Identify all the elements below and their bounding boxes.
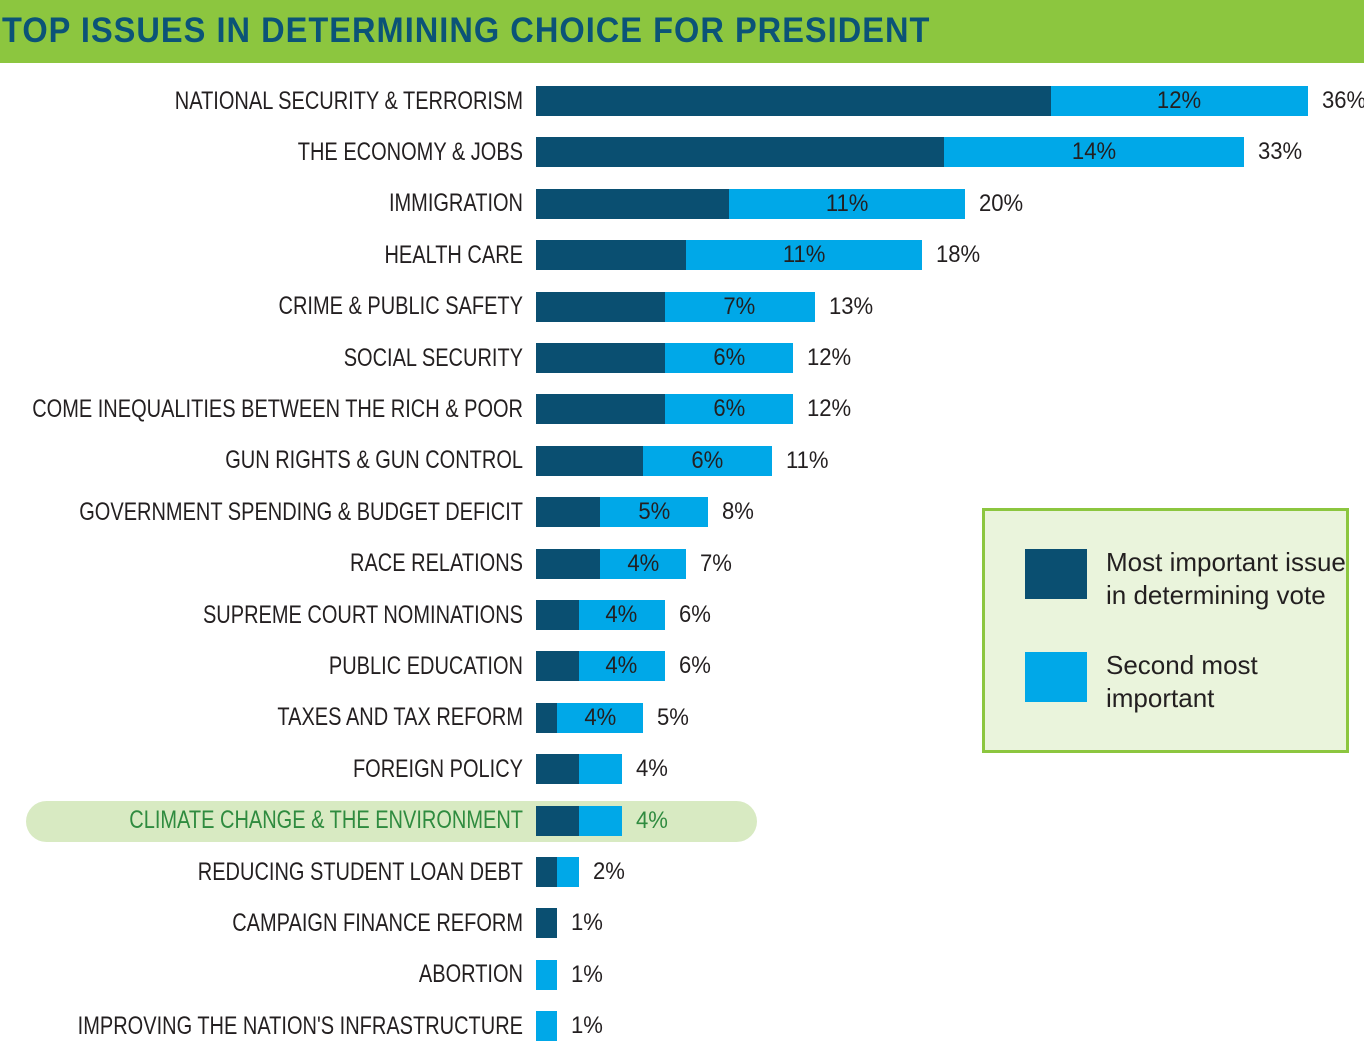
bar-segment-primary (536, 806, 579, 836)
bar-segment-primary (536, 600, 579, 630)
bar-track: 4% (536, 549, 686, 579)
category-label: PUBLIC EDUCATION (105, 644, 523, 688)
total-value-label: 1% (571, 1011, 603, 1041)
bar-segment-secondary: 6% (643, 446, 772, 476)
segment-value-label: 4% (627, 552, 659, 576)
bar-track (536, 806, 622, 836)
total-value-label: 33% (1258, 137, 1302, 167)
bar-track: 7% (536, 292, 815, 322)
chart-row: REDUCING STUDENT LOAN DEBT2% (0, 850, 1364, 894)
bar-track: 6% (536, 343, 793, 373)
chart-row: NATIONAL SECURITY & TERRORISM12%36% (0, 79, 1364, 123)
chart-row: SOCIAL SECURITY6%12% (0, 336, 1364, 380)
segment-value-label: 11% (826, 192, 869, 216)
segment-value-label: 4% (606, 654, 638, 678)
bar-segment-secondary (579, 754, 622, 784)
category-label: CRIME & PUBLIC SAFETY (105, 285, 523, 329)
category-label: CAMPAIGN FINANCE REFORM (105, 901, 523, 945)
bar-track: 14% (536, 137, 1244, 167)
category-label: NATIONAL SECURITY & TERRORISM (105, 79, 523, 123)
legend-entry-secondary: Second most important (1025, 649, 1258, 715)
header-banner: TOP ISSUES IN DETERMINING CHOICE FOR PRE… (0, 0, 1364, 63)
total-value-label: 12% (807, 343, 851, 373)
chart-row: CAMPAIGN FINANCE REFORM1% (0, 901, 1364, 945)
bar-segment-secondary: 11% (729, 189, 965, 219)
category-label: COME INEQUALITIES BETWEEN THE RICH & POO… (105, 387, 523, 431)
bar-track: 6% (536, 446, 772, 476)
category-label: SUPREME COURT NOMINATIONS (105, 593, 523, 637)
bar-track: 4% (536, 651, 665, 681)
bar-track (536, 857, 579, 887)
bar-track: 11% (536, 189, 965, 219)
legend-label-primary: Most important issue in determining vote (1106, 546, 1346, 612)
bar-segment-primary (536, 343, 665, 373)
total-value-label: 4% (636, 806, 668, 836)
category-label: GOVERNMENT SPENDING & BUDGET DEFICIT (105, 490, 523, 534)
total-value-label: 1% (571, 908, 603, 938)
segment-value-label: 6% (713, 397, 745, 421)
bar-segment-secondary: 6% (665, 343, 794, 373)
total-value-label: 4% (636, 754, 668, 784)
chart-legend: Most important issue in determining vote… (982, 508, 1349, 753)
chart-page: TOP ISSUES IN DETERMINING CHOICE FOR PRE… (0, 0, 1364, 1051)
segment-value-label: 14% (1072, 140, 1116, 164)
bar-track: 4% (536, 703, 643, 733)
bar-segment-primary (536, 292, 665, 322)
chart-row: FOREIGN POLICY4% (0, 747, 1364, 791)
segment-value-label: 6% (692, 449, 724, 473)
total-value-label: 11% (786, 446, 829, 476)
total-value-label: 20% (979, 189, 1023, 219)
bar-segment-secondary (536, 960, 557, 990)
bar-track: 4% (536, 600, 665, 630)
bar-segment-primary (536, 857, 557, 887)
bar-segment-primary (536, 908, 557, 938)
bar-segment-secondary (579, 806, 622, 836)
segment-value-label: 12% (1157, 89, 1201, 113)
bar-segment-primary (536, 394, 665, 424)
bar-segment-secondary: 4% (579, 651, 665, 681)
category-label: REDUCING STUDENT LOAN DEBT (105, 850, 523, 894)
total-value-label: 13% (829, 292, 873, 322)
bar-track: 12% (536, 86, 1308, 116)
bar-segment-secondary: 5% (600, 497, 707, 527)
bar-track (536, 754, 622, 784)
bar-segment-secondary: 4% (579, 600, 665, 630)
total-value-label: 6% (679, 651, 711, 681)
segment-value-label: 6% (713, 346, 745, 370)
bar-track (536, 960, 557, 990)
category-label: ABORTION (105, 953, 523, 997)
bar-track (536, 908, 557, 938)
bar-segment-secondary (536, 1011, 557, 1041)
bar-segment-secondary: 4% (557, 703, 643, 733)
total-value-label: 2% (593, 857, 625, 887)
category-label: CLIMATE CHANGE & THE ENVIRONMENT (105, 799, 523, 843)
bar-segment-primary (536, 446, 643, 476)
total-value-label: 6% (679, 600, 711, 630)
bar-segment-primary (536, 703, 557, 733)
category-label: GUN RIGHTS & GUN CONTROL (105, 439, 523, 483)
chart-row: IMMIGRATION11%20% (0, 182, 1364, 226)
segment-value-label: 11% (783, 243, 826, 267)
bar-track: 6% (536, 394, 793, 424)
bar-segment-primary (536, 651, 579, 681)
bar-segment-primary (536, 137, 944, 167)
bar-segment-primary (536, 549, 600, 579)
bar-segment-secondary: 12% (1051, 86, 1308, 116)
bar-segment-primary (536, 497, 600, 527)
bar-segment-secondary: 11% (686, 240, 922, 270)
total-value-label: 7% (700, 549, 732, 579)
chart-row: CLIMATE CHANGE & THE ENVIRONMENT4% (0, 799, 1364, 843)
legend-entry-primary: Most important issue in determining vote (1025, 546, 1346, 612)
total-value-label: 1% (571, 960, 603, 990)
bar-track (536, 1011, 557, 1041)
category-label: THE ECONOMY & JOBS (105, 130, 523, 174)
bar-segment-secondary: 4% (600, 549, 686, 579)
chart-row: IMPROVING THE NATION'S INFRASTRUCTURE1% (0, 1004, 1364, 1048)
legend-swatch-primary-icon (1025, 549, 1087, 599)
segment-value-label: 4% (584, 706, 616, 730)
bar-track: 11% (536, 240, 922, 270)
bar-track: 5% (536, 497, 708, 527)
chart-row: THE ECONOMY & JOBS14%33% (0, 130, 1364, 174)
bar-segment-primary (536, 86, 1051, 116)
category-label: SOCIAL SECURITY (105, 336, 523, 380)
bar-segment-primary (536, 189, 729, 219)
chart-row: CRIME & PUBLIC SAFETY7%13% (0, 285, 1364, 329)
bar-segment-secondary (557, 857, 578, 887)
total-value-label: 18% (936, 240, 980, 270)
category-label: RACE RELATIONS (105, 542, 523, 586)
segment-value-label: 7% (724, 295, 756, 319)
chart-row: ABORTION1% (0, 953, 1364, 997)
bar-segment-secondary: 6% (665, 394, 794, 424)
total-value-label: 12% (807, 394, 851, 424)
legend-swatch-secondary-icon (1025, 652, 1087, 702)
segment-value-label: 4% (606, 603, 638, 627)
category-label: IMMIGRATION (105, 182, 523, 226)
category-label: FOREIGN POLICY (105, 747, 523, 791)
bar-segment-primary (536, 754, 579, 784)
category-label: HEALTH CARE (105, 233, 523, 277)
category-label: TAXES AND TAX REFORM (105, 696, 523, 740)
page-title: TOP ISSUES IN DETERMINING CHOICE FOR PRE… (2, 9, 930, 53)
legend-label-secondary: Second most important (1106, 649, 1258, 715)
chart-row: COME INEQUALITIES BETWEEN THE RICH & POO… (0, 387, 1364, 431)
segment-value-label: 5% (638, 500, 670, 524)
chart-row: HEALTH CARE11%18% (0, 233, 1364, 277)
bar-segment-secondary: 7% (665, 292, 815, 322)
category-label: IMPROVING THE NATION'S INFRASTRUCTURE (105, 1004, 523, 1048)
chart-row: GUN RIGHTS & GUN CONTROL6%11% (0, 439, 1364, 483)
total-value-label: 36% (1322, 86, 1364, 116)
total-value-label: 5% (657, 703, 689, 733)
bar-segment-secondary: 14% (944, 137, 1244, 167)
bar-segment-primary (536, 240, 686, 270)
total-value-label: 8% (722, 497, 754, 527)
